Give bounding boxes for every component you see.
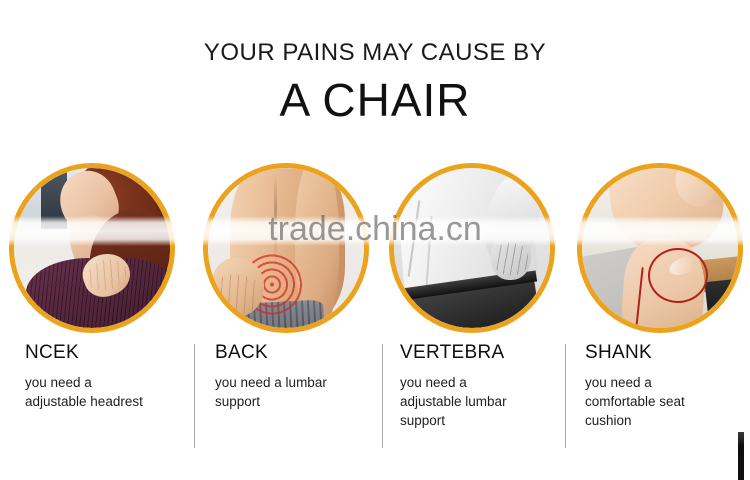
photo-vertebra-hand xyxy=(491,235,532,280)
caption-shank: SHANK you need a comfortable seat cushio… xyxy=(585,343,750,430)
photo-vertebra xyxy=(394,168,550,328)
caption-vertebra-description: you need a adjustable lumbar support xyxy=(400,373,570,430)
promo-banner: YOUR PAINS MAY CAUSE BY A CHAIR xyxy=(0,0,750,480)
photo-circle-vertebra xyxy=(389,163,555,333)
caption-neck-description: you need a adjustable headrest xyxy=(25,373,195,411)
caption-shank-title: SHANK xyxy=(585,343,750,364)
photo-back-spine xyxy=(274,174,277,264)
edge-artifact-bar xyxy=(738,432,744,480)
photo-circle-row xyxy=(0,163,750,335)
photo-neck xyxy=(14,168,170,328)
photo-shank-shadow xyxy=(704,278,738,328)
photo-circle-back xyxy=(203,163,369,333)
headline-block: YOUR PAINS MAY CAUSE BY A CHAIR xyxy=(0,40,750,127)
caption-vertebra-title: VERTEBRA xyxy=(400,343,570,364)
photo-circle-neck xyxy=(9,163,175,333)
caption-neck: NCEK you need a adjustable headrest xyxy=(25,343,195,411)
photo-circle-shank xyxy=(577,163,743,333)
headline-title: A CHAIR xyxy=(0,74,750,127)
pain-circle-icon xyxy=(648,248,708,303)
caption-back: BACK you need a lumbar support xyxy=(215,343,385,411)
caption-vertebra: VERTEBRA you need a adjustable lumbar su… xyxy=(400,343,570,430)
headline-subtitle: YOUR PAINS MAY CAUSE BY xyxy=(0,40,750,66)
caption-row: NCEK you need a adjustable headrest BACK… xyxy=(0,343,750,463)
caption-back-title: BACK xyxy=(215,343,385,364)
caption-back-description: you need a lumbar support xyxy=(215,373,385,411)
photo-shank xyxy=(582,168,738,328)
caption-shank-description: you need a comfortable seat cushion xyxy=(585,373,750,430)
photo-back xyxy=(208,168,364,328)
caption-neck-title: NCEK xyxy=(25,343,195,364)
